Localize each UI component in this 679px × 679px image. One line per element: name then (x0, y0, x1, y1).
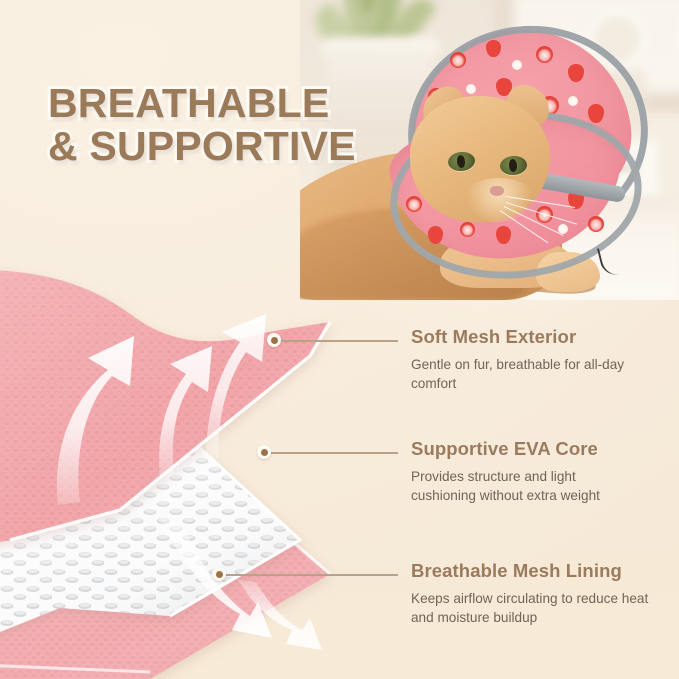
callout-supportive-eva-core: Supportive EVA Core Provides structure a… (411, 438, 643, 506)
leader-dot (212, 567, 226, 581)
callout-description: Gentle on fur, breathable for all-day co… (411, 355, 663, 394)
infographic-root: BREATHABLE & SUPPORTIVE (0, 0, 679, 679)
callout-description: Provides structure and light cushioning … (411, 467, 643, 506)
title-line-1: BREATHABLE (48, 80, 329, 126)
cat-pupil (509, 159, 518, 173)
callout-description: Keeps airflow circulating to reduce heat… (411, 589, 651, 628)
callout-breathable-mesh-lining: Breathable Mesh Lining Keeps airflow cir… (411, 560, 651, 628)
callout-soft-mesh-exterior: Soft Mesh Exterior Gentle on fur, breath… (411, 326, 663, 394)
cat-pupil (456, 155, 465, 169)
leader-line-2 (257, 445, 398, 459)
leader-dot (267, 333, 281, 347)
leader-line-3 (212, 567, 398, 581)
leader-dot-core (271, 337, 278, 344)
callout-title: Supportive EVA Core (411, 438, 643, 460)
callout-title: Soft Mesh Exterior (411, 326, 663, 348)
leader-line-1 (267, 333, 398, 347)
cat-nose (490, 186, 504, 196)
leader-stroke (273, 340, 398, 342)
leader-dot-core (216, 571, 223, 578)
leader-stroke (263, 452, 398, 454)
callout-title: Breathable Mesh Lining (411, 560, 651, 582)
leader-stroke (218, 574, 398, 576)
leader-dot (257, 445, 271, 459)
page-title: BREATHABLE & SUPPORTIVE (48, 82, 356, 169)
leader-dot-core (261, 449, 268, 456)
title-line-2: & SUPPORTIVE (48, 125, 356, 168)
